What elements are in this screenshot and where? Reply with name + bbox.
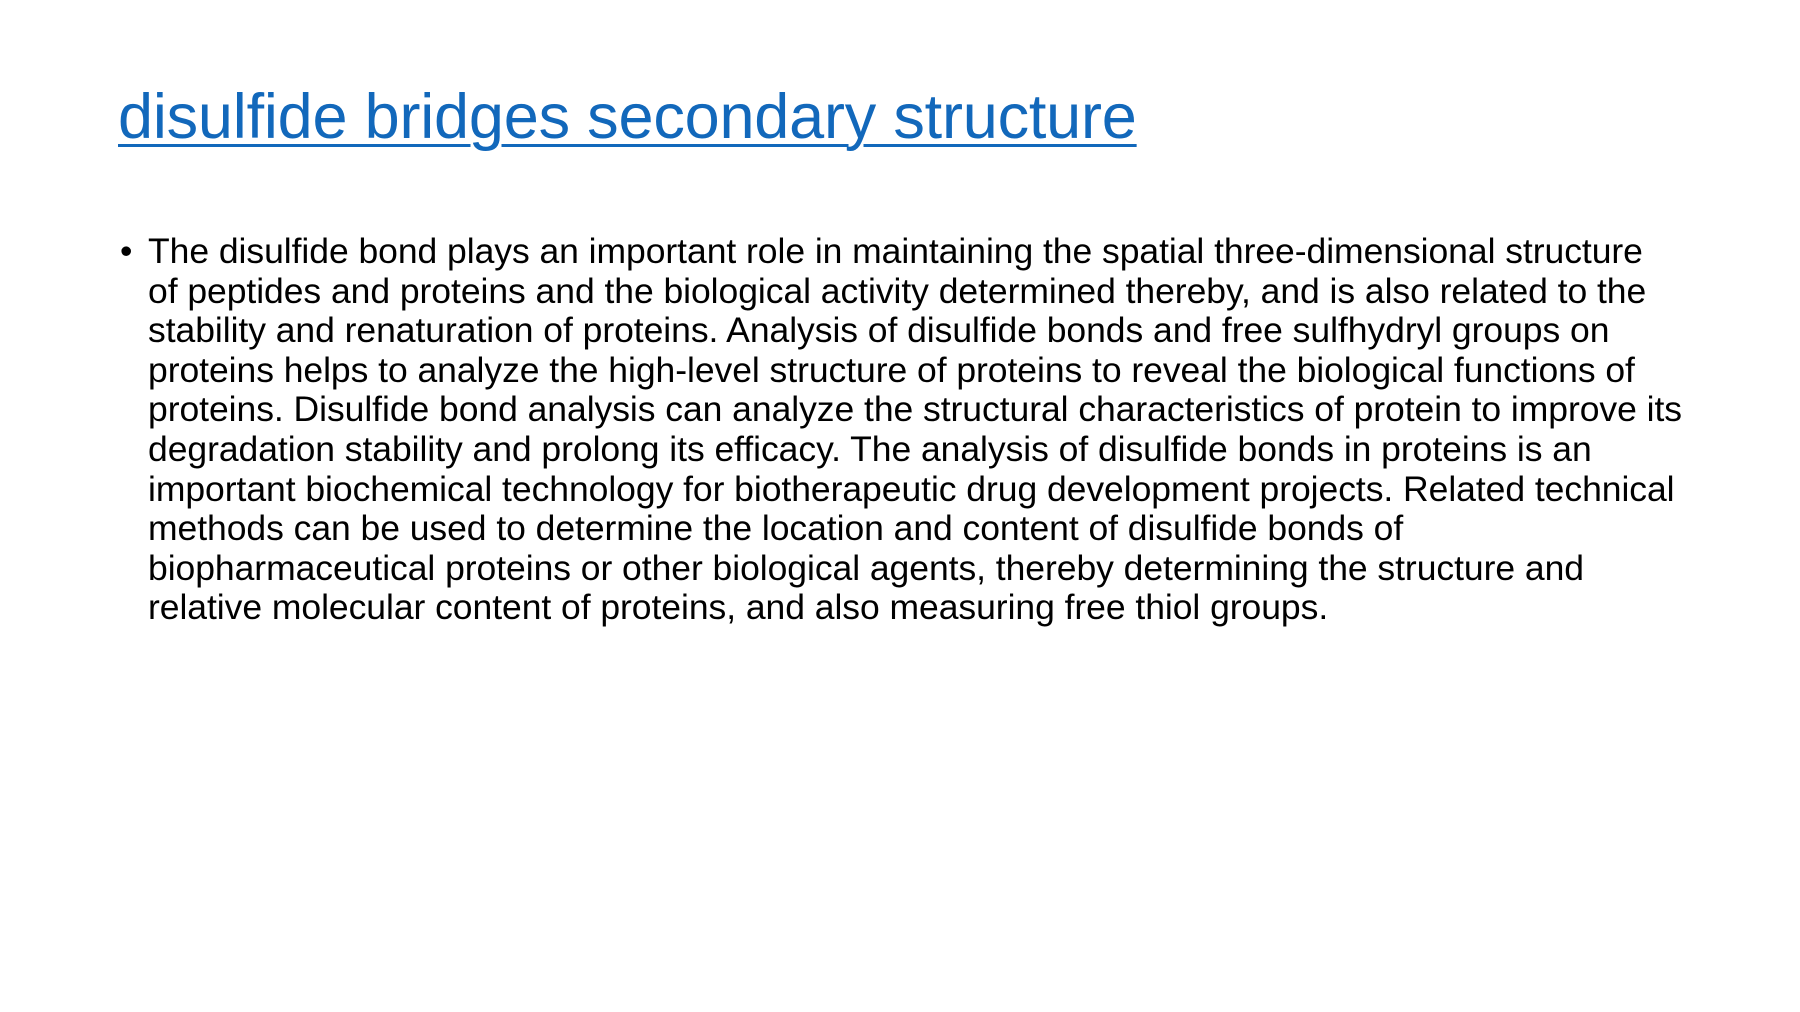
- presentation-slide: disulfide bridges secondary structure • …: [0, 0, 1800, 1012]
- bullet-item-text: The disulfide bond plays an important ro…: [148, 232, 1682, 628]
- list-item: • The disulfide bond plays an important …: [112, 232, 1682, 628]
- bullet-point-icon: •: [120, 232, 132, 272]
- slide-body: • The disulfide bond plays an important …: [112, 232, 1682, 628]
- slide-title: disulfide bridges secondary structure: [118, 82, 1678, 153]
- bullet-list: • The disulfide bond plays an important …: [112, 232, 1682, 628]
